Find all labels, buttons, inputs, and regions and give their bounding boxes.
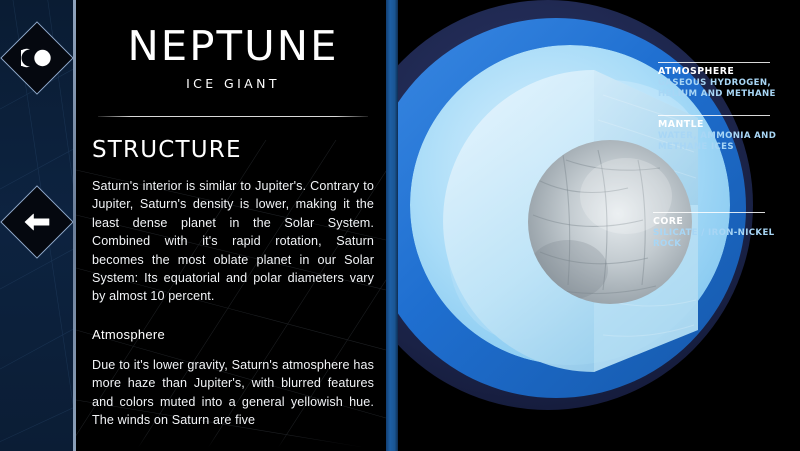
callout-title: ATMOSPHERE (658, 66, 776, 77)
callout-subtitle-line-2: ROCK (653, 239, 775, 249)
callout-subtitle-line-1: SILICATE / IRON-NICKEL (653, 228, 775, 238)
callout-subtitle-line-2: METHANE ICES (658, 142, 776, 152)
panel-separator (386, 0, 398, 451)
section-heading: STRUCTURE (92, 137, 374, 163)
structure-paragraph: Saturn's interior is similar to Jupiter'… (92, 177, 374, 306)
left-icon-rail (0, 0, 73, 451)
callout-leader-line (658, 115, 770, 116)
callout-subtitle-line-1: WATER, AMMONIA AND (658, 131, 776, 141)
planet-structure-screen: NEPTUNE ICE GIANT STRUCTURE Saturn's int… (0, 0, 800, 451)
callout-title: MANTLE (658, 119, 776, 130)
callout-atmosphere[interactable]: ATMOSPHERE GASEOUS HYDROGEN, HELIUM AND … (658, 66, 776, 99)
atmosphere-subheading: Atmosphere (92, 327, 374, 342)
panel-content: NEPTUNE ICE GIANT STRUCTURE Saturn's int… (76, 26, 386, 429)
callout-subtitle-line-1: GASEOUS HYDROGEN, (658, 78, 776, 88)
page-title: NEPTUNE (89, 26, 377, 67)
callout-title: CORE (653, 216, 775, 227)
arrow-left-icon (12, 197, 62, 247)
atmosphere-paragraph: Due to it's lower gravity, Saturn's atmo… (92, 356, 374, 430)
callout-subtitle-line-2: HELIUM AND METHANE (658, 89, 776, 99)
page-subtitle: ICE GIANT (92, 76, 374, 91)
callout-core[interactable]: CORE SILICATE / IRON-NICKEL ROCK (653, 216, 775, 249)
info-panel: NEPTUNE ICE GIANT STRUCTURE Saturn's int… (76, 0, 386, 451)
callout-mantle[interactable]: MANTLE WATER, AMMONIA AND METHANE ICES (658, 119, 776, 152)
diagram-stage: ATMOSPHERE GASEOUS HYDROGEN, HELIUM AND … (398, 0, 800, 451)
planet-phases-icon (12, 33, 62, 83)
title-divider (98, 116, 368, 117)
callout-leader-line (653, 212, 765, 213)
callout-leader-line (658, 62, 770, 63)
